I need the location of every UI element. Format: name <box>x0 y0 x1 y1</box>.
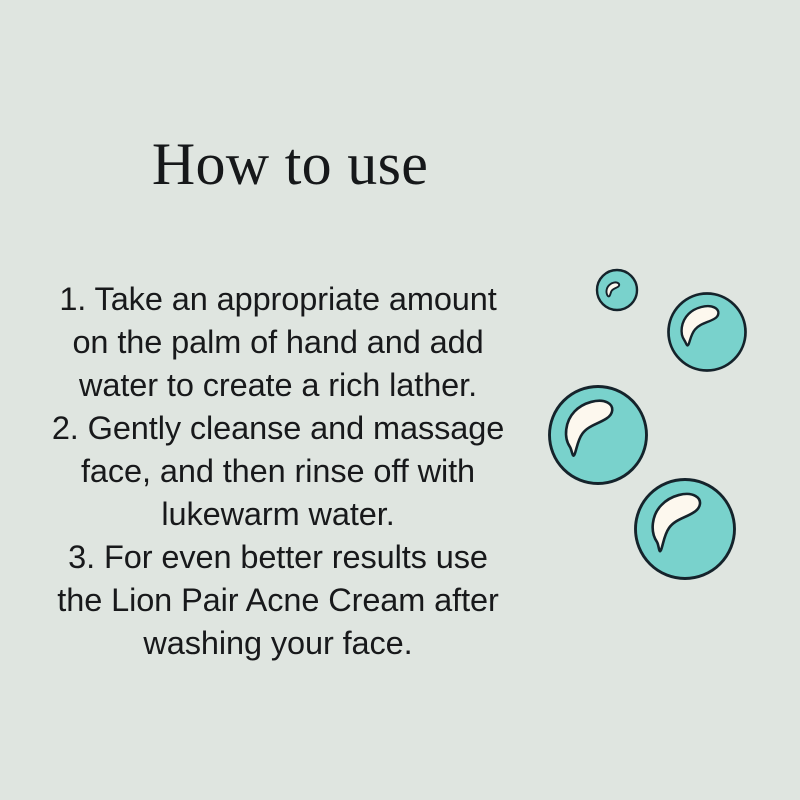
step-3-line-2: the Lion Pair Acne Cream after <box>28 579 528 622</box>
step-1-line-2: on the palm of hand and add <box>28 321 528 364</box>
instruction-step-3: 3. For even better results use the Lion … <box>28 536 528 665</box>
bubble-large-left-icon <box>546 383 650 487</box>
step-3-line-3: washing your face. <box>28 622 528 665</box>
instruction-list: 1. Take an appropriate amount on the pal… <box>28 278 528 665</box>
step-2-line-3: lukewarm water. <box>28 493 528 536</box>
instruction-step-1: 1. Take an appropriate amount on the pal… <box>28 278 528 407</box>
step-3-line-1: 3. For even better results use <box>28 536 528 579</box>
step-2-line-2: face, and then rinse off with <box>28 450 528 493</box>
step-1-line-1: 1. Take an appropriate amount <box>28 278 528 321</box>
bubble-large-bottom-icon <box>632 476 738 582</box>
page-title: How to use <box>0 133 580 196</box>
how-to-use-poster: How to use 1. Take an appropriate amount… <box>0 0 800 800</box>
step-1-line-3: water to create a rich lather. <box>28 364 528 407</box>
step-2-line-1: 2. Gently cleanse and massage <box>28 407 528 450</box>
bubble-small-icon <box>593 266 641 314</box>
instruction-step-2: 2. Gently cleanse and massage face, and … <box>28 407 528 536</box>
bubble-medium-icon <box>664 289 750 375</box>
